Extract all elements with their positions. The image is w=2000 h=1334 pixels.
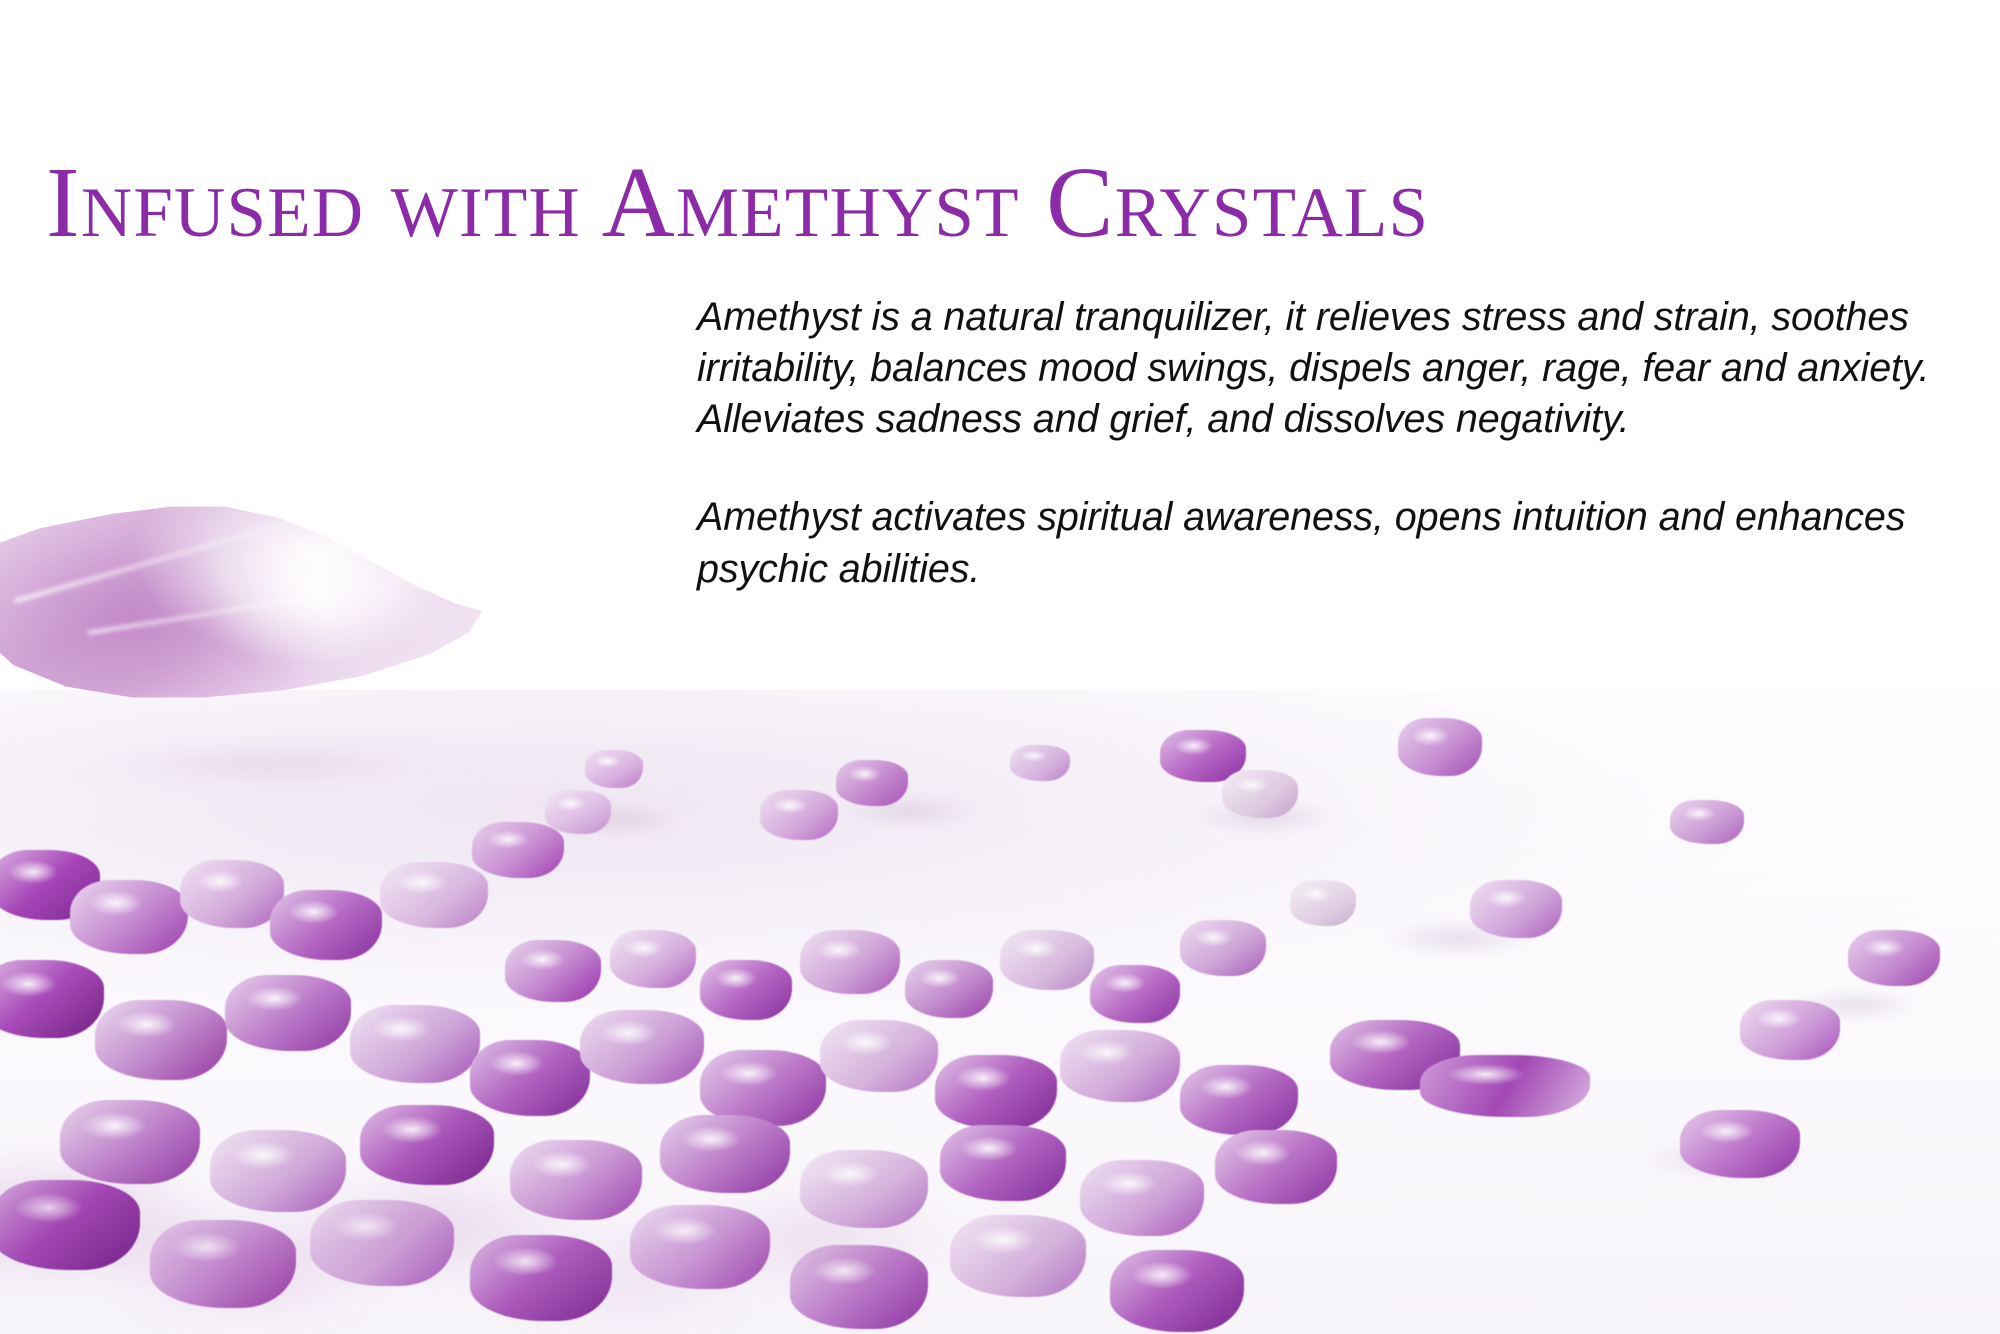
- amethyst-chip: [1680, 1110, 1800, 1178]
- amethyst-chip: [350, 1005, 480, 1083]
- amethyst-chip: [1110, 1250, 1244, 1332]
- amethyst-chip: [1222, 770, 1298, 818]
- amethyst-chip: [836, 760, 908, 806]
- amethyst-chip: [95, 1000, 227, 1080]
- paragraph-benefits: Amethyst is a natural tranquilizer, it r…: [697, 292, 1932, 445]
- amethyst-chip: [472, 822, 564, 878]
- amethyst-chip: [700, 960, 792, 1020]
- amethyst-chip: [150, 1220, 296, 1308]
- amethyst-chip: [1215, 1130, 1337, 1204]
- amethyst-chip: [1670, 800, 1744, 844]
- amethyst-chip: [225, 975, 351, 1051]
- page-title: Infused with Amethyst Crystals: [46, 152, 1926, 253]
- crystal-facet-line: [14, 494, 383, 604]
- chip-shadow: [840, 795, 980, 827]
- chip-shadow: [1640, 1140, 1810, 1178]
- amethyst-chip: [1848, 930, 1940, 986]
- amethyst-point-crystal: [0, 395, 614, 755]
- amethyst-chip: [800, 930, 900, 994]
- amethyst-chip: [1330, 1020, 1460, 1090]
- amethyst-chip: [180, 860, 284, 928]
- amethyst-chip: [1080, 1160, 1204, 1236]
- amethyst-chip: [1180, 920, 1266, 976]
- amethyst-chip: [505, 940, 601, 1002]
- amethyst-chip: [1000, 930, 1094, 990]
- amethyst-chip: [545, 790, 611, 834]
- amethyst-chip: [0, 850, 100, 920]
- amethyst-chip: [1740, 1000, 1840, 1060]
- amethyst-chip: [820, 1020, 938, 1092]
- amethyst-chip: [580, 1010, 704, 1084]
- amethyst-chip: [270, 890, 382, 960]
- amethyst-chip: [790, 1245, 928, 1329]
- amethyst-chip: [310, 1200, 454, 1286]
- amethyst-chip: [610, 930, 696, 988]
- amethyst-chip: [1290, 880, 1356, 926]
- amethyst-chip: [1420, 1055, 1590, 1117]
- amethyst-chip: [935, 1055, 1057, 1129]
- crystal-facet-line: [270, 422, 470, 531]
- amethyst-chip: [940, 1125, 1066, 1201]
- amethyst-chip: [585, 750, 643, 788]
- amethyst-chip: [380, 862, 488, 928]
- amethyst-chip: [0, 960, 104, 1038]
- paragraph-spiritual: Amethyst activates spiritual awareness, …: [697, 492, 1932, 594]
- amethyst-chip: [1090, 965, 1180, 1023]
- amethyst-chip: [70, 880, 188, 954]
- amethyst-chip: [510, 1140, 642, 1220]
- amethyst-chip: [60, 1100, 200, 1184]
- chip-shadow: [1790, 990, 1920, 1020]
- amethyst-chip: [660, 1115, 790, 1193]
- amethyst-chip: [700, 1050, 826, 1126]
- amethyst-chip: [760, 790, 838, 840]
- chip-shadow: [560, 805, 680, 835]
- amethyst-chip: [470, 1040, 590, 1116]
- poster-canvas: Infused with Amethyst Crystals Amethyst …: [0, 0, 2000, 1334]
- amethyst-chip: [800, 1150, 928, 1228]
- chip-shadow: [1380, 920, 1540, 956]
- amethyst-chip: [1398, 718, 1482, 776]
- crystal-shadow: [10, 735, 530, 793]
- crystal-facet-line: [88, 577, 428, 635]
- amethyst-chip: [0, 1180, 140, 1270]
- amethyst-chip: [360, 1105, 494, 1185]
- amethyst-chip: [1180, 1065, 1298, 1135]
- amethyst-chip: [630, 1205, 770, 1289]
- amethyst-chip: [905, 960, 993, 1018]
- amethyst-chip: [1470, 880, 1562, 938]
- amethyst-chip: [1010, 745, 1070, 781]
- surface-backdrop: [0, 690, 2000, 1334]
- description-block: Amethyst is a natural tranquilizer, it r…: [697, 292, 1932, 595]
- amethyst-chip: [210, 1130, 346, 1212]
- amethyst-chip: [1060, 1030, 1180, 1102]
- amethyst-chip: [950, 1215, 1086, 1297]
- amethyst-chip: [470, 1235, 612, 1321]
- chip-shadow: [1190, 800, 1340, 834]
- amethyst-chip: [1160, 730, 1246, 782]
- chip-cluster-haze: [0, 1054, 1030, 1334]
